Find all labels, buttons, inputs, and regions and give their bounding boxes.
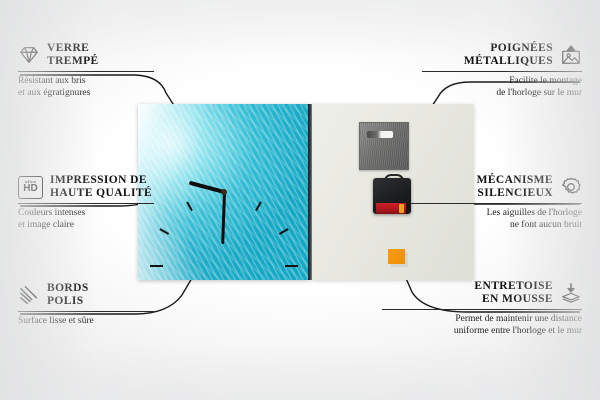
ultra-hd-badge-icon: ultra HD [18,176,43,199]
callout-header: MÉCANISME SILENCIEUX [410,174,582,200]
clock-hour-hand [189,181,225,194]
callout-title-line2: POLIS [47,295,89,308]
callout-sub-line2: ne font aucun bruit [410,220,582,232]
callout-divider [18,311,154,312]
callout-title-line1: ENTRETOISE [474,280,553,293]
callout-sub-line2: de l'horloge sur le mur [422,88,582,100]
callout-sub-line2: uniforme entre l'horloge et le mur [382,326,582,338]
callout-header: POIGNÉES MÉTALLIQUES [422,42,582,68]
callout-sub-line2: et aux égratignures [18,88,154,100]
callout-title-line2: SILENCIEUX [477,187,553,200]
callout-header: BORDS POLIS [18,282,154,308]
wall-mount-frame-icon [560,44,582,66]
callout-impression-haute-qualite: ultra HD IMPRESSION DE HAUTE QUALITÉ Cou… [18,174,154,231]
infographic-canvas: VERRE TREMPÉ Résistant aux bris et aux é… [0,0,600,400]
callout-header: VERRE TREMPÉ [18,42,154,68]
callout-sub-line1: Facilite le montage [422,76,582,88]
callout-sub-line2: et image claire [18,220,154,232]
callout-title-line2: MÉTALLIQUES [464,55,553,68]
callout-entretoise-en-mousse: ENTRETOISE EN MOUSSE Permet de maintenir… [382,280,582,337]
callout-title-line1: MÉCANISME [477,174,553,187]
callout-sub-line1: Les aiguilles de l'horloge [410,208,582,220]
callout-title-line1: POIGNÉES [464,42,553,55]
callout-divider [18,203,154,204]
diamond-icon [18,44,40,66]
clock-tick [150,265,163,267]
clock-mechanism [373,174,411,214]
metal-hanger-plate [359,122,409,170]
callout-title-line2: TREMPÉ [47,55,99,68]
clock-tick [279,228,289,235]
gear-icon [560,176,582,198]
callout-divider [382,309,582,310]
callout-sub-line1: Couleurs intenses [18,208,154,220]
callout-title-line1: BORDS [47,282,89,295]
ultra-hd-badge-main: HD [23,184,37,194]
callout-divider [422,71,582,72]
clock-tick [159,228,169,235]
callout-title-line2: EN MOUSSE [474,293,553,306]
callout-title-line1: VERRE [47,42,99,55]
callout-mecanisme-silencieux: MÉCANISME SILENCIEUX Les aiguilles de l'… [410,174,582,231]
callout-divider [410,203,582,204]
clock-dial [138,104,310,280]
clock-minute-hand [221,192,226,244]
callout-title-line1: IMPRESSION DE [50,174,152,187]
callout-sub-line1: Permet de maintenir une distance [382,314,582,326]
clock-tick [285,265,298,267]
callout-sub-line1: Surface lisse et sûre [18,316,154,328]
clock-center-cap [221,189,227,195]
mechanism-body [373,178,411,214]
callout-header: ultra HD IMPRESSION DE HAUTE QUALITÉ [18,174,154,200]
hanger-slot [367,131,393,138]
clock-face-feather-print [138,104,310,280]
clock-tick [186,201,193,211]
callout-sub-line1: Résistant aux bris [18,76,154,88]
callout-verre-trempe: VERRE TREMPÉ Résistant aux bris et aux é… [18,42,154,99]
polished-edges-icon [18,284,40,306]
foam-spacer-arrow-icon [560,282,582,304]
battery [376,203,406,214]
clock-tick [255,201,262,211]
callout-title-line2: HAUTE QUALITÉ [50,187,152,200]
foam-spacer [388,249,405,264]
callout-header: ENTRETOISE EN MOUSSE [382,280,582,306]
callout-poignees-metalliques: POIGNÉES MÉTALLIQUES Facilite le montage… [422,42,582,99]
callout-divider [18,71,154,72]
callout-bords-polis: BORDS POLIS Surface lisse et sûre [18,282,154,328]
